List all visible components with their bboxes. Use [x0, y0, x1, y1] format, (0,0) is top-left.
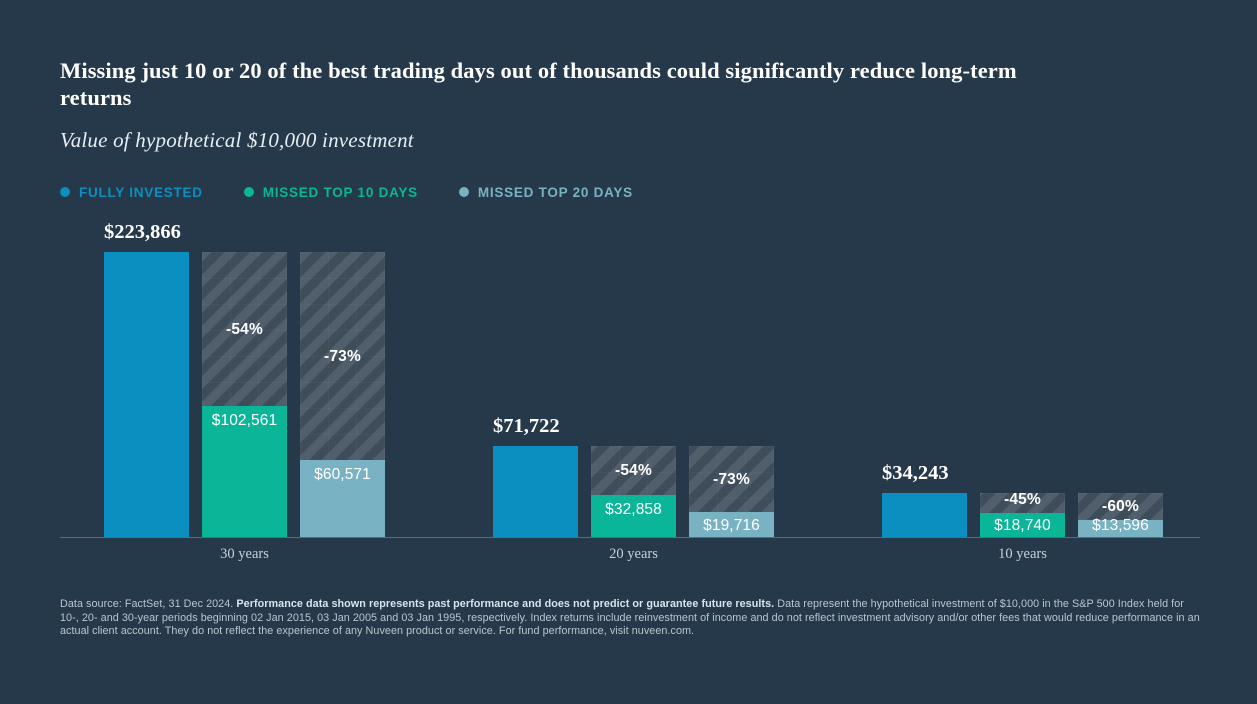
category-label: 10 years — [882, 546, 1163, 563]
bar-top-value-label: $71,722 — [493, 415, 560, 438]
bar-solid-fill — [104, 252, 189, 537]
legend-item-missed-top-10[interactable]: MISSED TOP 10 DAYS — [244, 185, 418, 200]
axis-baseline — [60, 537, 1200, 538]
category-label: 20 years — [493, 546, 774, 563]
bar-group: $223,866-54%$102,561-73%$60,57130 years — [104, 210, 385, 537]
page-title: Missing just 10 or 20 of the best tradin… — [60, 57, 1090, 111]
bar-missed-top-20[interactable]: -73%$19,716 — [689, 446, 774, 537]
bar-value-label: $19,716 — [689, 517, 774, 535]
bar-value-label: $13,596 — [1078, 517, 1163, 535]
legend-label: MISSED TOP 20 DAYS — [478, 185, 633, 200]
chart-legend: FULLY INVESTED MISSED TOP 10 DAYS MISSED… — [60, 182, 674, 202]
bar-missed-top-20[interactable]: -60%$13,596 — [1078, 493, 1163, 537]
footnote-source: Data source: FactSet, 31 Dec 2024. — [60, 598, 236, 610]
bar-fully-invested[interactable]: $34,243 — [882, 493, 967, 537]
bar-missed-top-20[interactable]: -73%$60,571 — [300, 252, 385, 537]
bar-top-value-label: $223,866 — [104, 221, 181, 244]
category-label: 30 years — [104, 546, 385, 563]
bar-missed-top-10[interactable]: -45%$18,740 — [980, 493, 1065, 537]
chart-plot-area: $223,866-54%$102,561-73%$60,57130 years$… — [60, 210, 1200, 538]
bar-group: $71,722-54%$32,858-73%$19,71620 years — [493, 210, 774, 537]
bar-group: $34,243-45%$18,740-60%$13,59610 years — [882, 210, 1163, 537]
bar-missed-top-10[interactable]: -54%$32,858 — [591, 446, 676, 537]
bar-value-label: $102,561 — [202, 412, 287, 430]
legend-dot-icon — [244, 187, 254, 197]
legend-label: MISSED TOP 10 DAYS — [263, 185, 418, 200]
bar-solid-fill — [882, 493, 967, 537]
bar-pct-label: -60% — [1078, 498, 1163, 516]
bar-fully-invested[interactable]: $71,722 — [493, 446, 578, 537]
legend-item-missed-top-20[interactable]: MISSED TOP 20 DAYS — [459, 185, 633, 200]
footnote-disclaimer-bold: Performance data shown represents past p… — [236, 598, 774, 610]
bar-missed-top-10[interactable]: -54%$102,561 — [202, 252, 287, 537]
bar-pct-label: -54% — [202, 321, 287, 339]
bar-value-label: $60,571 — [300, 466, 385, 484]
bar-pct-label: -73% — [689, 471, 774, 489]
legend-dot-icon — [60, 187, 70, 197]
legend-label: FULLY INVESTED — [79, 185, 203, 200]
bar-pct-label: -45% — [980, 491, 1065, 509]
page-subtitle: Value of hypothetical $10,000 investment — [60, 128, 414, 153]
bar-pct-label: -54% — [591, 462, 676, 480]
legend-dot-icon — [459, 187, 469, 197]
bar-pct-label: -73% — [300, 348, 385, 366]
bar-value-label: $18,740 — [980, 517, 1065, 535]
chart-page: Missing just 10 or 20 of the best tradin… — [0, 0, 1257, 704]
bar-value-label: $32,858 — [591, 501, 676, 519]
bar-solid-fill — [493, 446, 578, 537]
chart-footnote: Data source: FactSet, 31 Dec 2024. Perfo… — [60, 598, 1200, 639]
bar-top-value-label: $34,243 — [882, 462, 949, 485]
bar-fully-invested[interactable]: $223,866 — [104, 252, 189, 537]
legend-item-fully-invested[interactable]: FULLY INVESTED — [60, 185, 203, 200]
